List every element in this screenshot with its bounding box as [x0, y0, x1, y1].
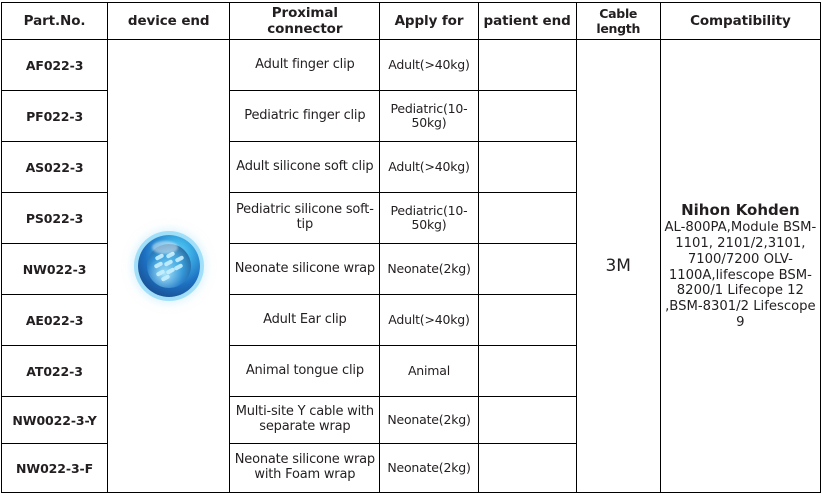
cell-proximal-connector: Pediatric silicone soft-tip	[230, 193, 380, 244]
cell-part-no: AE022-3	[2, 295, 108, 346]
cell-patient-end	[478, 346, 576, 397]
compatibility-brand: Nihon Kohden	[664, 201, 817, 219]
cell-proximal-connector: Neonate silicone wrap with Foam wrap	[230, 444, 380, 493]
cell-patient-end	[478, 142, 576, 193]
table-body: AF022-3	[2, 40, 821, 493]
cell-part-no: PS022-3	[2, 193, 108, 244]
cell-part-no: AS022-3	[2, 142, 108, 193]
table-header: Part.No. device end Proximal connector A…	[2, 3, 821, 40]
product-spec-table: Part.No. device end Proximal connector A…	[1, 2, 821, 493]
table-row: AF022-3	[2, 40, 821, 91]
column-header-proximal-connector: Proximal connector	[230, 3, 380, 40]
cell-device-end-merged	[108, 40, 230, 493]
cell-patient-end	[478, 444, 576, 493]
cell-proximal-connector: Multi-site Y cable with separate wrap	[230, 397, 380, 444]
round-blue-connector-icon	[138, 235, 200, 297]
cell-proximal-connector: Adult finger clip	[230, 40, 380, 91]
cell-apply-for: Adult(>40kg)	[380, 40, 478, 91]
header-row: Part.No. device end Proximal connector A…	[2, 3, 821, 40]
cell-proximal-connector: Neonate silicone wrap	[230, 244, 380, 295]
cell-patient-end	[478, 244, 576, 295]
cell-apply-for: Pediatric(10-50kg)	[380, 91, 478, 142]
column-header-compatibility: Compatibility	[660, 3, 820, 40]
compatibility-models: AL-800PA,Module BSM-1101, 2101/2,3101, 7…	[664, 220, 816, 330]
cell-proximal-connector: Animal tongue clip	[230, 346, 380, 397]
cell-patient-end	[478, 295, 576, 346]
column-header-device-end: device end	[108, 3, 230, 40]
cell-apply-for: Neonate(2kg)	[380, 444, 478, 493]
cell-patient-end	[478, 40, 576, 91]
cell-patient-end	[478, 397, 576, 444]
column-header-part-no: Part.No.	[2, 3, 108, 40]
cell-compatibility-merged: Nihon Kohden AL-800PA,Module BSM-1101, 2…	[660, 40, 820, 493]
cell-apply-for: Pediatric(10-50kg)	[380, 193, 478, 244]
spec-sheet: Part.No. device end Proximal connector A…	[0, 2, 822, 493]
column-header-apply-for: Apply for	[380, 3, 478, 40]
cell-apply-for: Neonate(2kg)	[380, 397, 478, 444]
cell-part-no: PF022-3	[2, 91, 108, 142]
cell-part-no: AF022-3	[2, 40, 108, 91]
cell-apply-for: Neonate(2kg)	[380, 244, 478, 295]
cell-part-no: AT022-3	[2, 346, 108, 397]
cell-apply-for: Adult(>40kg)	[380, 295, 478, 346]
column-header-cable-length: Cable length	[576, 3, 660, 40]
connector-gloss	[152, 241, 178, 254]
cell-part-no: NW022-3	[2, 244, 108, 295]
cell-patient-end	[478, 91, 576, 142]
cell-proximal-connector: Adult Ear clip	[230, 295, 380, 346]
device-end-image-wrap	[111, 235, 226, 297]
cell-proximal-connector: Pediatric finger clip	[230, 91, 380, 142]
cell-apply-for: Animal	[380, 346, 478, 397]
cell-part-no: NW0022-3-Y	[2, 397, 108, 444]
column-header-patient-end: patient end	[478, 3, 576, 40]
cell-proximal-connector: Adult silicone soft clip	[230, 142, 380, 193]
cell-part-no: NW022-3-F	[2, 444, 108, 493]
cell-apply-for: Adult(>40kg)	[380, 142, 478, 193]
cell-patient-end	[478, 193, 576, 244]
cell-cable-length-merged: 3M	[576, 40, 660, 493]
